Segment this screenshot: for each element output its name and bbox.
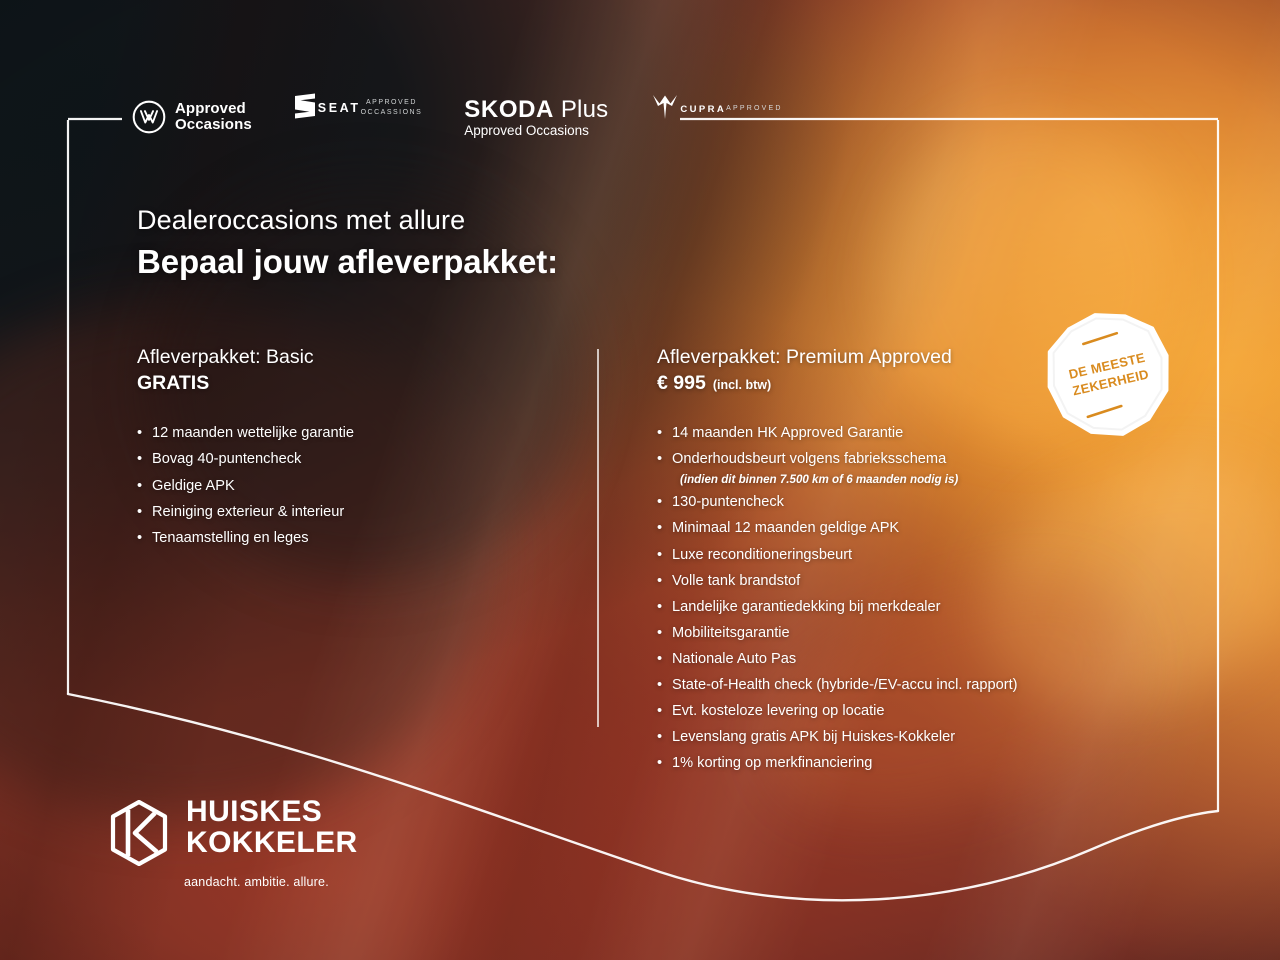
bullet-icon: • [657, 420, 662, 446]
poster-canvas: Approved Occasions SEAT APPROVED OCCASSI… [0, 0, 1280, 960]
feature-text: Luxe reconditioneringsbeurt [672, 547, 852, 563]
bullet-icon: • [657, 446, 662, 472]
seat-sublabel: APPROVED OCCASSIONS [361, 98, 423, 117]
feature-text: 14 maanden HK Approved Garantie [672, 425, 903, 441]
bullet-icon: • [657, 594, 662, 620]
feature-text: Onderhoudsbeurt volgens fabrieksschema [672, 451, 946, 467]
bullet-icon: • [137, 420, 142, 446]
feature-item: •Mobiliteitsgarantie [657, 620, 1137, 646]
feature-item: •State-of-Health check (hybride-/EV-accu… [657, 672, 1137, 698]
cupra-logo-icon [650, 92, 680, 122]
bullet-icon: • [137, 473, 142, 499]
brand-logo-row: Approved Occasions SEAT APPROVED OCCASSI… [132, 86, 783, 160]
feature-note: (indien dit binnen 7.500 km of 6 maanden… [680, 472, 1137, 489]
feature-text: 12 maanden wettelijke garantie [152, 425, 354, 441]
bullet-icon: • [657, 620, 662, 646]
feature-item: •Reiniging exterieur & interieur [137, 499, 567, 525]
package-card-basic: Afleverpakket: Basic GRATIS •12 maanden … [137, 345, 567, 551]
bullet-icon: • [657, 542, 662, 568]
package-price-value-premium: € 995 [657, 372, 706, 394]
dealer-name-line2: KOKKELER [186, 828, 358, 859]
status-badge-most-certainty: DE MEESTE ZEKERHEID [1046, 311, 1172, 439]
bullet-icon: • [657, 672, 662, 698]
seat-sub2: OCCASSIONS [361, 108, 423, 117]
kicker-text: Dealeroccasions met allure [137, 205, 465, 236]
bullet-icon: • [137, 499, 142, 525]
feature-item: •Minimaal 12 maanden geldige APK [657, 515, 1137, 541]
huiskes-kokkeler-monogram-icon [108, 800, 170, 866]
bullet-icon: • [657, 750, 662, 776]
feature-list-basic: •12 maanden wettelijke garantie•Bovag 40… [137, 420, 567, 551]
dealer-tagline-wrap: aandacht. ambitie. allure. [108, 866, 329, 889]
feature-item: •130-puntencheck [657, 489, 1137, 515]
skoda-word: SKODA [464, 96, 554, 123]
bullet-icon: • [137, 525, 142, 551]
package-title-basic: Afleverpakket: Basic [137, 345, 567, 370]
feature-text: Mobiliteitsgarantie [672, 625, 790, 641]
feature-text: Nationale Auto Pas [672, 651, 796, 667]
bullet-icon: • [657, 568, 662, 594]
brand-logo-seat: SEAT APPROVED OCCASSIONS [292, 92, 423, 120]
cupra-sublabel: APPROVED [726, 105, 783, 112]
vw-line2: Occasions [175, 117, 252, 133]
package-price-value-basic: GRATIS [137, 372, 209, 394]
skoda-plus [554, 96, 561, 123]
vw-line1: Approved [175, 101, 252, 117]
skoda-sublabel: Approved Occasions [464, 123, 608, 140]
package-price-vat-premium: (incl. btw) [713, 378, 771, 392]
feature-text: Geldige APK [152, 478, 235, 494]
skoda-wordmark-icon: SKODA Plus [464, 98, 608, 122]
feature-text: Minimaal 12 maanden geldige APK [672, 520, 899, 536]
feature-item: •Landelijke garantiedekking bij merkdeal… [657, 594, 1137, 620]
feature-text: Landelijke garantiedekking bij merkdeale… [672, 599, 941, 615]
feature-text: Evt. kosteloze levering op locatie [672, 703, 885, 719]
feature-item: •Nationale Auto Pas [657, 646, 1137, 672]
seat-wordmark: SEAT [318, 101, 361, 115]
package-price-basic: GRATIS [137, 371, 567, 396]
feature-list-premium: •14 maanden HK Approved Garantie•Onderho… [657, 420, 1137, 776]
bullet-icon: • [137, 446, 142, 472]
brand-logo-skoda: SKODA Plus Approved Occasions [464, 98, 608, 140]
bullet-icon: • [657, 515, 662, 541]
bullet-icon: • [657, 698, 662, 724]
feature-item: •Onderhoudsbeurt volgens fabrieksschema(… [657, 446, 1137, 488]
vw-logo-text: Approved Occasions [175, 101, 252, 132]
feature-item: •1% korting op merkfinanciering [657, 750, 1137, 776]
dealer-logo: HUISKES KOKKELER [108, 797, 358, 866]
skoda-plus-word: Plus [561, 96, 609, 123]
feature-text: State-of-Health check (hybride-/EV-accu … [672, 677, 1018, 693]
feature-text: 130-puntencheck [672, 494, 784, 510]
seat-logo-icon [292, 92, 318, 120]
vw-logo-icon [132, 100, 166, 134]
feature-text: 1% korting op merkfinanciering [672, 755, 872, 771]
dealer-name-line1: HUISKES [186, 797, 358, 828]
feature-text: Bovag 40-puntencheck [152, 451, 301, 467]
bullet-icon: • [657, 724, 662, 750]
feature-item: •12 maanden wettelijke garantie [137, 420, 567, 446]
bullet-icon: • [657, 489, 662, 515]
feature-item: •Tenaamstelling en leges [137, 525, 567, 551]
feature-item: •Luxe reconditioneringsbeurt [657, 542, 1137, 568]
dealer-logo-text: HUISKES KOKKELER [186, 797, 358, 858]
dealer-tagline: aandacht. ambitie. allure. [184, 875, 329, 889]
brand-logo-vw: Approved Occasions [132, 100, 252, 134]
brand-logo-cupra: CUPRA APPROVED [650, 92, 782, 122]
feature-item: •Volle tank brandstof [657, 568, 1137, 594]
feature-item: •Geldige APK [137, 473, 567, 499]
page-title: Bepaal jouw afleverpakket: [137, 243, 558, 281]
feature-text: Volle tank brandstof [672, 573, 800, 589]
feature-text: Tenaamstelling en leges [152, 530, 309, 546]
feature-text: Levenslang gratis APK bij Huiskes-Kokkel… [672, 729, 955, 745]
feature-item: •Levenslang gratis APK bij Huiskes-Kokke… [657, 724, 1137, 750]
bullet-icon: • [657, 646, 662, 672]
feature-item: •Bovag 40-puntencheck [137, 446, 567, 472]
feature-text: Reiniging exterieur & interieur [152, 504, 344, 520]
seat-sub1: APPROVED [361, 98, 423, 107]
feature-item: •Evt. kosteloze levering op locatie [657, 698, 1137, 724]
cupra-wordmark: CUPRA [680, 104, 726, 115]
